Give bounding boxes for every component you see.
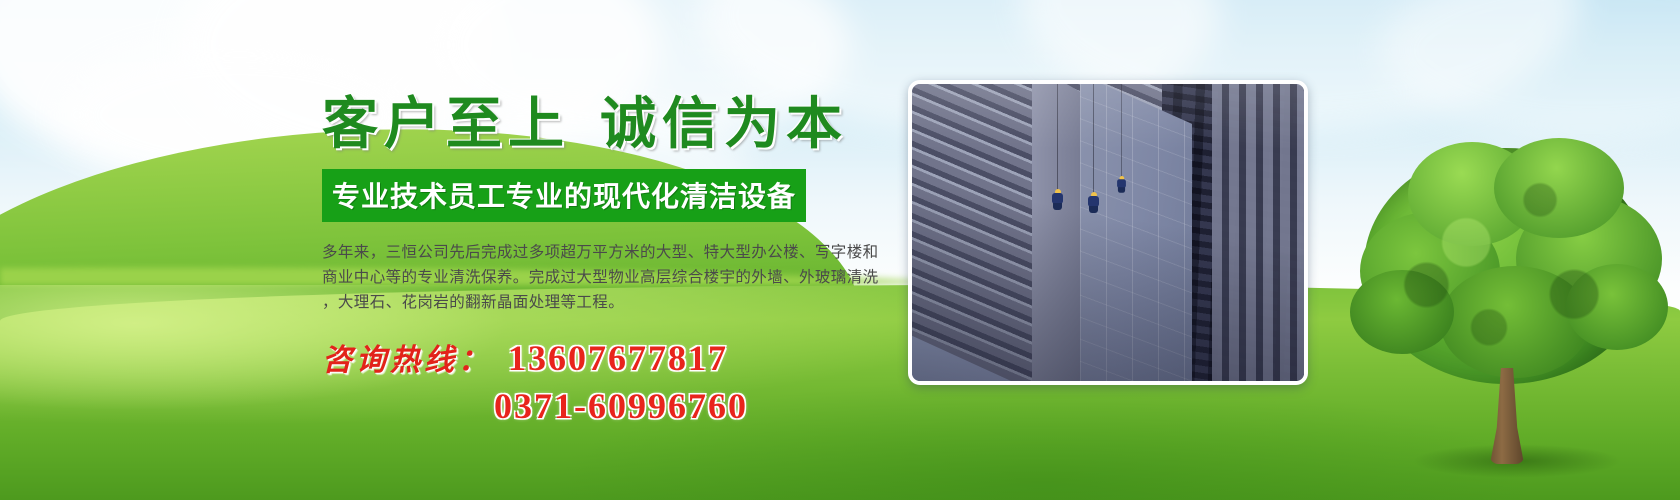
headline-part-2: 诚信为本 bbox=[600, 94, 848, 156]
banner-subtitle: 专业技术员工专业的现代化清洁设备 bbox=[332, 181, 796, 212]
description-line-3: ，大理石、花岗岩的翻新晶面处理等工程。 bbox=[322, 290, 882, 315]
hotline-landline-number[interactable]: 0371-60996760 bbox=[494, 385, 748, 427]
description-line-1: 多年来，三恒公司先后完成过多项超万平方米的大型、特大型办公楼、写字楼和 bbox=[322, 240, 882, 265]
cloud-icon bbox=[1380, 0, 1680, 140]
foreground-tree bbox=[1356, 138, 1656, 478]
hotline-mobile-number[interactable]: 13607677817 bbox=[508, 337, 728, 379]
banner-description: 多年来，三恒公司先后完成过多项超万平方米的大型、特大型办公楼、写字楼和 商业中心… bbox=[322, 240, 882, 315]
tree-foliage-texture bbox=[1364, 148, 1648, 384]
building-photo bbox=[908, 80, 1308, 385]
banner-headline: 客户至上诚信为本 bbox=[322, 96, 902, 155]
headline-part-1: 客户至上 bbox=[322, 94, 570, 156]
hotline-label: 咨询热线： bbox=[322, 335, 492, 379]
promo-banner: 客户至上诚信为本 专业技术员工专业的现代化清洁设备 多年来，三恒公司先后完成过多… bbox=[0, 0, 1680, 500]
hotline-block: 咨询热线： 13607677817 0371-60996760 bbox=[322, 335, 902, 427]
hotline-primary-line: 咨询热线： 13607677817 bbox=[322, 335, 902, 379]
hotline-secondary-line: 0371-60996760 bbox=[322, 379, 902, 427]
building-photo-image bbox=[912, 84, 1304, 381]
banner-text-column: 客户至上诚信为本 专业技术员工专业的现代化清洁设备 多年来，三恒公司先后完成过多… bbox=[322, 96, 902, 427]
description-line-2: 商业中心等的专业清洗保养。完成过大型物业高层综合楼宇的外墙、外玻璃清洗 bbox=[322, 265, 882, 290]
banner-subtitle-bar: 专业技术员工专业的现代化清洁设备 bbox=[322, 169, 806, 222]
photo-shading-overlay bbox=[912, 84, 1304, 381]
